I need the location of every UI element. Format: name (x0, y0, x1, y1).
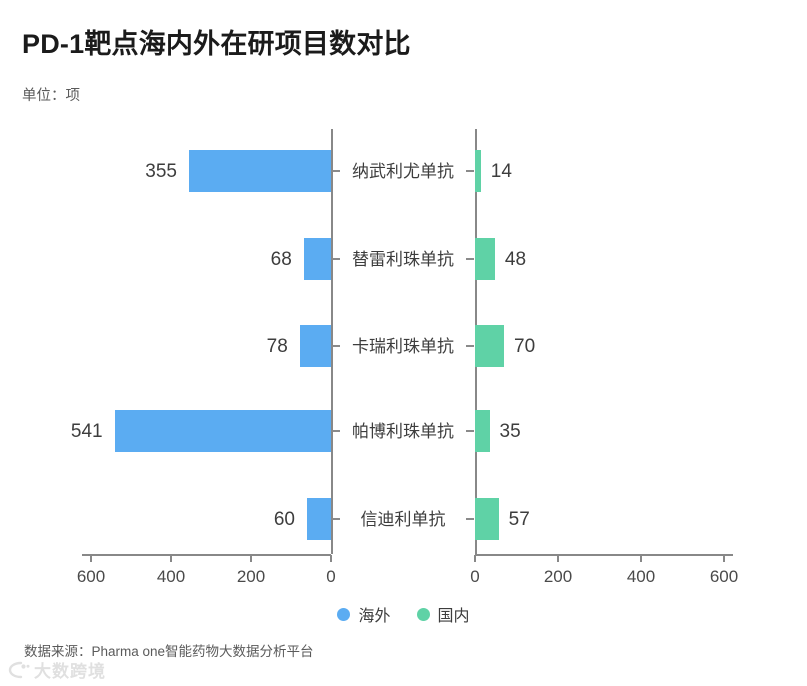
right-axis-tick-label: 600 (694, 568, 754, 585)
source-note: 数据来源：Pharma one智能药物大数据分析平台 (24, 640, 314, 660)
legend-label-domestic: 国内 (438, 602, 470, 626)
bar-value-domestic: 70 (514, 337, 634, 356)
legend-item-domestic[interactable]: 国内 (417, 602, 470, 626)
legend-swatch-overseas-icon (337, 608, 350, 621)
bar-value-overseas: 78 (168, 337, 288, 356)
left-axis-tick (90, 555, 92, 562)
category-label: 替雷利珠单抗 (331, 251, 475, 268)
bar-value-domestic: 57 (509, 510, 629, 529)
bar-domestic[interactable] (475, 150, 481, 192)
bar-domestic[interactable] (475, 238, 495, 280)
bar-value-domestic: 35 (500, 422, 620, 441)
chart-plot-area: 6004002000020040060035514纳武利尤单抗6848替雷利珠单… (0, 0, 807, 686)
bar-domestic[interactable] (475, 498, 499, 540)
category-label: 帕博利珠单抗 (331, 423, 475, 440)
bar-overseas[interactable] (189, 150, 331, 192)
left-axis-tick-label: 200 (221, 568, 281, 585)
legend-swatch-domestic-icon (417, 608, 430, 621)
left-axis-tick-label: 600 (61, 568, 121, 585)
bar-value-domestic: 14 (491, 162, 611, 181)
bar-overseas[interactable] (307, 498, 331, 540)
right-baseline-axis (475, 554, 733, 556)
left-axis-tick-label: 400 (141, 568, 201, 585)
legend-item-overseas[interactable]: 海外 (337, 602, 390, 626)
bar-domestic[interactable] (475, 325, 504, 367)
category-label: 信迪利单抗 (331, 511, 475, 528)
left-axis-tick-label: 0 (301, 568, 361, 585)
category-label: 纳武利尤单抗 (331, 163, 475, 180)
right-axis-tick (474, 555, 476, 562)
legend-label-overseas: 海外 (358, 602, 390, 626)
right-axis-tick-label: 200 (528, 568, 588, 585)
bar-domestic[interactable] (475, 410, 490, 452)
bar-value-overseas: 541 (0, 422, 103, 441)
left-baseline-axis (82, 554, 331, 556)
bar-overseas[interactable] (300, 325, 331, 367)
right-axis-tick (557, 555, 559, 562)
left-axis-tick (250, 555, 252, 562)
right-axis-tick (640, 555, 642, 562)
right-axis-tick (723, 555, 725, 562)
right-axis-tick-label: 0 (445, 568, 505, 585)
left-axis-tick (170, 555, 172, 562)
right-axis-tick-label: 400 (611, 568, 671, 585)
left-axis-tick (330, 555, 332, 562)
bar-value-overseas: 60 (175, 510, 295, 529)
bar-overseas[interactable] (304, 238, 331, 280)
bar-value-overseas: 68 (172, 250, 292, 269)
bar-value-overseas: 355 (57, 162, 177, 181)
bar-value-domestic: 48 (505, 250, 625, 269)
chart-legend: 海外 国内 (0, 602, 807, 626)
bar-overseas[interactable] (115, 410, 331, 452)
category-label: 卡瑞利珠单抗 (331, 338, 475, 355)
